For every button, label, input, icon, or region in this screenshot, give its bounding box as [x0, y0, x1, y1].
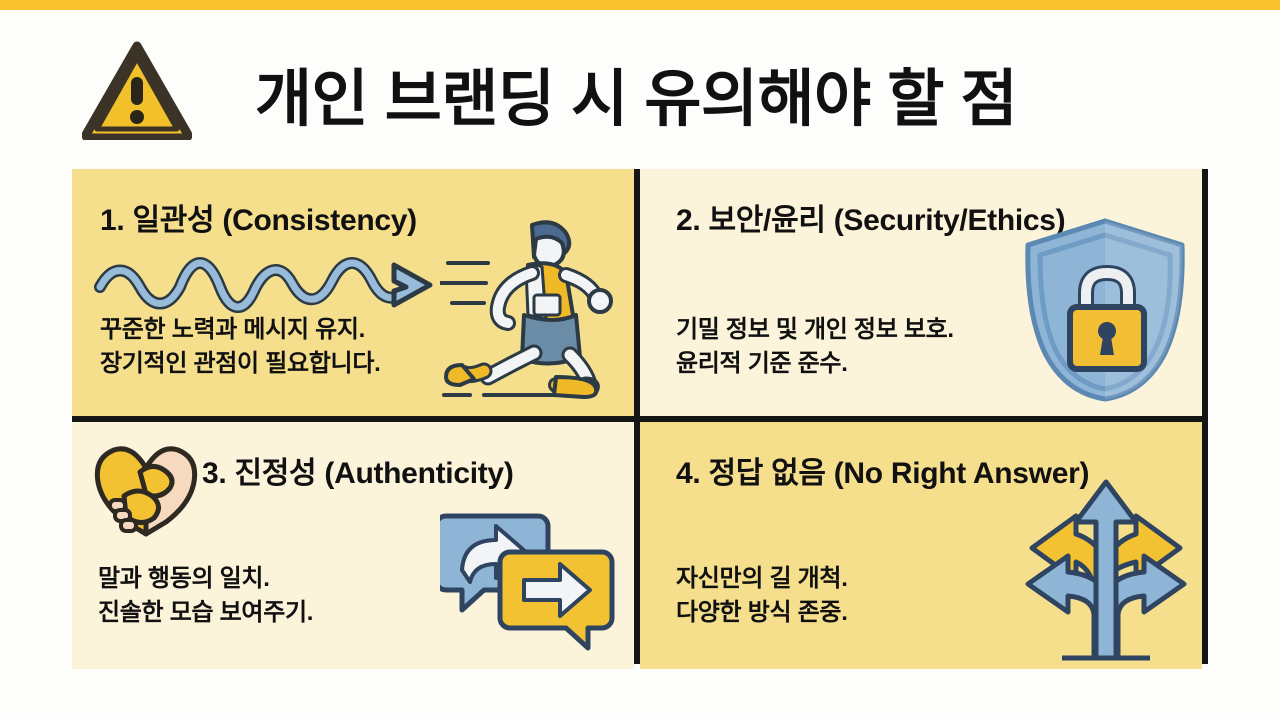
tips-grid: 1. 일관성 (Consistency): [72, 169, 1208, 664]
panel-1-heading: 1. 일관성 (Consistency): [100, 195, 417, 239]
panel-1-body: 꾸준한 노력과 메시지 유지. 장기적인 관점이 필요합니다.: [100, 313, 380, 381]
panel-3-heading: 3. 진정성 (Authenticity): [202, 448, 514, 492]
running-person-icon: [440, 209, 630, 409]
panel-2-body: 기밀 정보 및 개인 정보 보호. 윤리적 기준 준수.: [676, 313, 954, 381]
top-accent-bar: [0, 0, 1280, 10]
branching-arrows-icon: [1018, 478, 1194, 664]
page-title: 개인 브랜딩 시 유의해야 할 점: [255, 50, 1195, 136]
page-header: 개인 브랜딩 시 유의해야 할 점: [0, 10, 1280, 160]
panel-authenticity[interactable]: 3. 진정성 (Authenticity) 말과 행동의 일치. 진솔한 모습 …: [72, 422, 634, 669]
panel-2-heading: 2. 보안/윤리 (Security/Ethics): [676, 195, 1065, 239]
panel-4-body: 자신만의 길 개척. 다양한 방식 존중.: [676, 562, 848, 630]
panel-no-right-answer[interactable]: 4. 정답 없음 (No Right Answer) 자신만의: [640, 422, 1202, 669]
handshake-heart-icon: [90, 438, 202, 538]
panel-3-body: 말과 행동의 일치. 진솔한 모습 보여주기.: [98, 562, 313, 630]
warning-triangle-icon: [82, 40, 192, 140]
panel-security-ethics[interactable]: 2. 보안/윤리 (Security/Ethics) 기밀 정보 및 개인 정보…: [640, 169, 1202, 416]
wavy-arrow-icon: [94, 243, 434, 315]
panel-consistency[interactable]: 1. 일관성 (Consistency): [72, 169, 634, 416]
shield-lock-icon: [1020, 215, 1190, 405]
speech-bubbles-arrows-icon: [440, 508, 620, 658]
